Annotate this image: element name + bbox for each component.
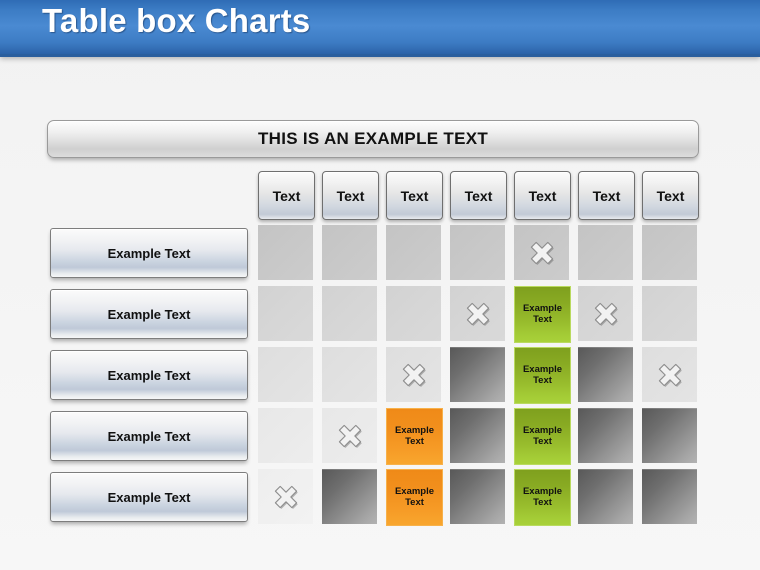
table-cell-r4-c2[interactable] <box>322 408 377 463</box>
x-mark-icon <box>656 361 684 389</box>
column-header-label: Text <box>465 188 493 204</box>
slide-bottom-fade <box>0 532 760 570</box>
column-header-label: Text <box>593 188 621 204</box>
table-cell-r4-c5[interactable]: Example Text <box>514 408 571 465</box>
cell-label: Example Text <box>387 426 442 448</box>
table-cell-r2-c7[interactable] <box>642 286 697 341</box>
column-header-label: Text <box>337 188 365 204</box>
table-cell-r2-c5[interactable]: Example Text <box>514 286 571 343</box>
cell-label: Example Text <box>387 487 442 509</box>
table-cell-r3-c6[interactable] <box>578 347 633 402</box>
column-header-5[interactable]: Text <box>514 171 571 220</box>
table-cell-r5-c6[interactable] <box>578 469 633 524</box>
row-label-1[interactable]: Example Text <box>50 228 248 278</box>
page-title: Table box Charts <box>42 2 310 40</box>
row-label-text: Example Text <box>108 307 191 322</box>
x-mark-icon <box>400 361 428 389</box>
row-label-text: Example Text <box>108 490 191 505</box>
table-cell-r5-c1[interactable] <box>258 469 313 524</box>
table-cell-r1-c5[interactable] <box>514 225 569 280</box>
x-mark-icon <box>592 300 620 328</box>
column-header-label: Text <box>401 188 429 204</box>
column-header-4[interactable]: Text <box>450 171 507 220</box>
column-header-6[interactable]: Text <box>578 171 635 220</box>
table-cell-r2-c2[interactable] <box>322 286 377 341</box>
column-header-label: Text <box>273 188 301 204</box>
table-cell-r5-c5[interactable]: Example Text <box>514 469 571 526</box>
table-cell-r1-c7[interactable] <box>642 225 697 280</box>
table-cell-r2-c6[interactable] <box>578 286 633 341</box>
table-cell-r3-c2[interactable] <box>322 347 377 402</box>
row-label-text: Example Text <box>108 368 191 383</box>
table-cell-r4-c6[interactable] <box>578 408 633 463</box>
cell-label: Example Text <box>515 487 570 509</box>
cell-label: Example Text <box>515 426 570 448</box>
row-label-4[interactable]: Example Text <box>50 411 248 461</box>
table-cell-r1-c4[interactable] <box>450 225 505 280</box>
table-cell-r2-c3[interactable] <box>386 286 441 341</box>
cell-label: Example Text <box>515 304 570 326</box>
column-header-2[interactable]: Text <box>322 171 379 220</box>
table-cell-r3-c5[interactable]: Example Text <box>514 347 571 404</box>
column-header-label: Text <box>529 188 557 204</box>
table-cell-r3-c3[interactable] <box>386 347 441 402</box>
table-cell-r3-c4[interactable] <box>450 347 505 402</box>
table-cell-r4-c1[interactable] <box>258 408 313 463</box>
x-mark-icon <box>272 483 300 511</box>
row-label-text: Example Text <box>108 246 191 261</box>
x-mark-icon <box>528 239 556 267</box>
column-header-3[interactable]: Text <box>386 171 443 220</box>
row-label-5[interactable]: Example Text <box>50 472 248 522</box>
table-cell-r2-c4[interactable] <box>450 286 505 341</box>
table-cell-r1-c2[interactable] <box>322 225 377 280</box>
table-cell-r4-c4[interactable] <box>450 408 505 463</box>
x-mark-icon <box>464 300 492 328</box>
banner-label: THIS IS AN EXAMPLE TEXT <box>258 129 488 149</box>
column-header-7[interactable]: Text <box>642 171 699 220</box>
cell-label: Example Text <box>515 365 570 387</box>
table-cell-r5-c7[interactable] <box>642 469 697 524</box>
table-cell-r4-c3[interactable]: Example Text <box>386 408 443 465</box>
title-bar: Table box Charts <box>0 0 760 57</box>
table-cell-r1-c1[interactable] <box>258 225 313 280</box>
table-cell-r5-c3[interactable]: Example Text <box>386 469 443 526</box>
row-label-2[interactable]: Example Text <box>50 289 248 339</box>
column-header-1[interactable]: Text <box>258 171 315 220</box>
column-header-label: Text <box>657 188 685 204</box>
x-mark-icon <box>336 422 364 450</box>
row-label-3[interactable]: Example Text <box>50 350 248 400</box>
table-cell-r5-c2[interactable] <box>322 469 377 524</box>
example-text-banner[interactable]: THIS IS AN EXAMPLE TEXT <box>47 120 699 158</box>
table-cell-r3-c7[interactable] <box>642 347 697 402</box>
row-label-text: Example Text <box>108 429 191 444</box>
table-cell-r5-c4[interactable] <box>450 469 505 524</box>
table-cell-r1-c6[interactable] <box>578 225 633 280</box>
table-cell-r2-c1[interactable] <box>258 286 313 341</box>
table-cell-r3-c1[interactable] <box>258 347 313 402</box>
table-cell-r4-c7[interactable] <box>642 408 697 463</box>
table-cell-r1-c3[interactable] <box>386 225 441 280</box>
